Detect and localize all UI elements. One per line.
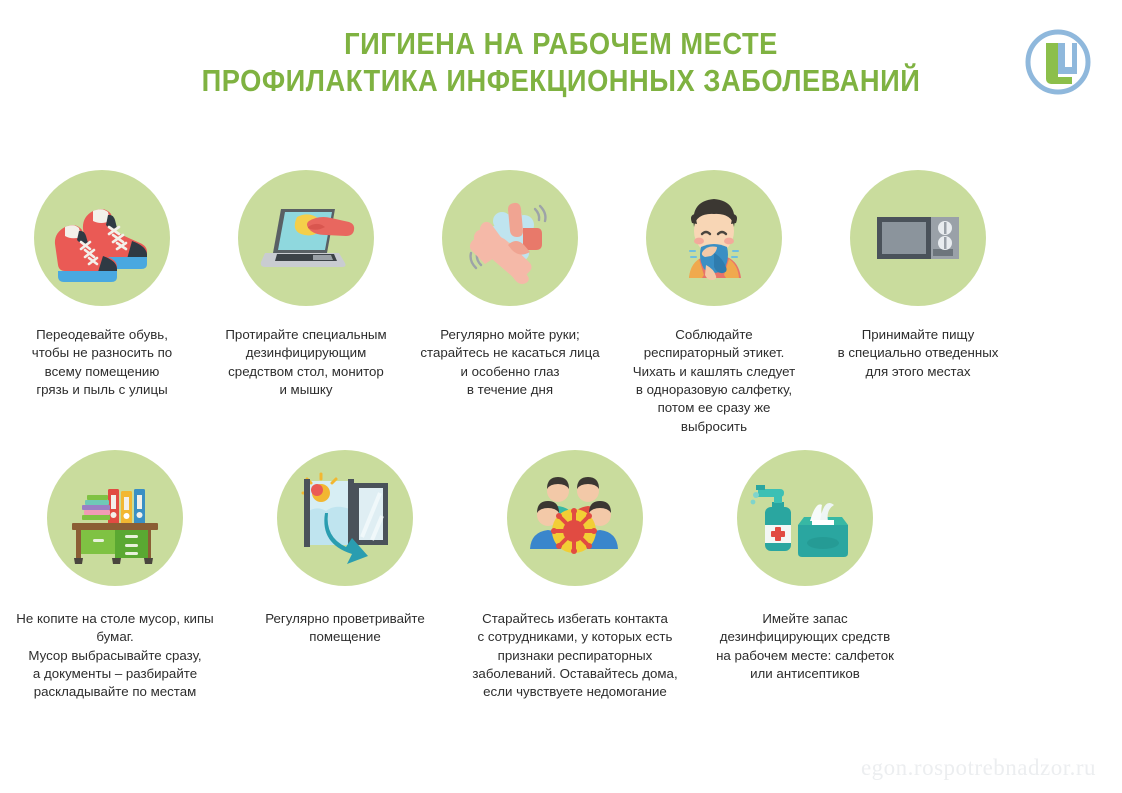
tip-caption: Соблюдайте респираторный этикет. Чихать … [633,326,795,436]
title-line-2: ПРОФИЛАКТИКА ИНФЕКЦИОННЫХ ЗАБОЛЕВАНИЙ [173,63,949,100]
tip-card-wash-hands: Регулярно мойте руки; старайтесь не каса… [408,170,612,436]
tip-card-respiratory-etiquette: Соблюдайте респираторный этикет. Чихать … [612,170,816,436]
group-of-people-virus-icon [507,450,643,586]
tip-caption: Переодевайте обувь, чтобы не разносить п… [32,326,172,399]
tip-card-keep-disinfectants: Имейте запас дезинфицирующих средств на … [690,450,920,702]
tip-card-clean-desk-devices: Протирайте специальным дезинфицирующим с… [204,170,408,436]
laptop-cleaning-icon [238,170,374,306]
tip-card-eat-in-designated-areas: Принимайте пищу в специально отведенных … [816,170,1020,436]
desk-with-folders-icon [47,450,183,586]
tip-caption: Имейте запас дезинфицирующих средств на … [716,610,894,683]
tip-caption: Старайтесь избегать контакта с сотрудник… [472,610,677,702]
title-line-1: ГИГИЕНА НА РАБОЧЕМ МЕСТЕ [173,26,949,63]
handwashing-icon [442,170,578,306]
tip-caption: Принимайте пищу в специально отведенных … [838,326,999,381]
rospotrebnadzor-logo-icon [1022,26,1094,98]
watermark: egon.rospotrebnadzor.ru [861,755,1096,781]
page-title: ГИГИЕНА НА РАБОЧЕМ МЕСТЕ ПРОФИЛАКТИКА ИН… [0,26,1122,99]
tip-caption: Протирайте специальным дезинфицирующим с… [225,326,386,399]
tip-caption: Регулярно проветривайте помещение [265,610,425,647]
tips-row-2: Не копите на столе мусор, кипы бумаг. Му… [0,450,1122,702]
tip-caption: Регулярно мойте руки; старайтесь не каса… [420,326,599,399]
sanitizer-and-tissues-icon [737,450,873,586]
tip-card-avoid-contact: Старайтесь избегать контакта с сотрудник… [460,450,690,702]
sneezing-person-icon [646,170,782,306]
header: ГИГИЕНА НА РАБОЧЕМ МЕСТЕ ПРОФИЛАКТИКА ИН… [0,0,1122,140]
microwave-icon [850,170,986,306]
tip-caption: Не копите на столе мусор, кипы бумаг. Му… [0,610,230,702]
tip-card-ventilate-room: Регулярно проветривайте помещение [230,450,460,702]
open-window-airflow-icon [277,450,413,586]
tip-card-change-shoes: Переодевайте обувь, чтобы не разносить п… [0,170,204,436]
sneakers-icon [34,170,170,306]
tips-row-1: Переодевайте обувь, чтобы не разносить п… [0,170,1122,436]
tip-card-keep-desk-clean: Не копите на столе мусор, кипы бумаг. Му… [0,450,230,702]
